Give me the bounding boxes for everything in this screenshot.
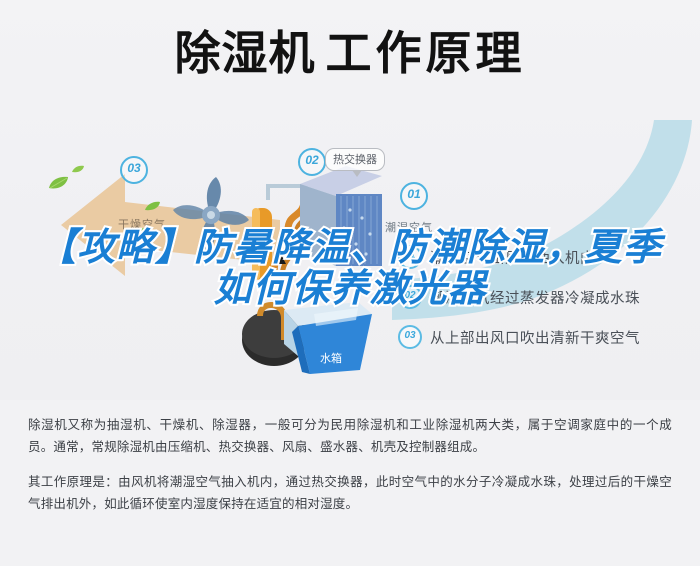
step-text: 潮湿空气经过蒸发器冷凝成水珠	[430, 287, 640, 308]
page-title: 除湿机工作原理	[0, 28, 700, 79]
step-number: 01	[398, 245, 422, 269]
diagram-badge-02: 02	[298, 148, 326, 176]
step-text: 从上部出风口吹出清新干爽空气	[430, 327, 640, 348]
leaf-icon	[136, 222, 148, 240]
step-number: 02	[398, 285, 422, 309]
water-tank-label: 水箱	[320, 350, 342, 366]
step-text: 潮湿空气由风机抽入机内	[430, 247, 595, 268]
leaf-icon	[48, 176, 70, 195]
fan-icon	[168, 172, 254, 258]
paragraph-1: 除湿机又称为抽湿机、干燥机、除湿器，一般可分为民用除湿机和工业除湿机两大类，属于…	[28, 414, 672, 458]
article-body: 除湿机又称为抽湿机、干燥机、除湿器，一般可分为民用除湿机和工业除湿机两大类，属于…	[0, 400, 700, 566]
infographic-panel: 除湿机工作原理 干燥空气	[0, 0, 700, 400]
leaf-icon	[145, 198, 161, 216]
steps-list: 01 潮湿空气由风机抽入机内 02 潮湿空气经过蒸发器冷凝成水珠 03 从上部出…	[398, 240, 693, 360]
list-item: 03 从上部出风口吹出清新干爽空气	[398, 320, 693, 354]
list-item: 02 潮湿空气经过蒸发器冷凝成水珠	[398, 280, 693, 314]
heat-exchanger-callout: 热交换器	[325, 148, 385, 171]
step-number: 03	[398, 325, 422, 349]
headline-part2: 工作原理	[326, 27, 526, 79]
headline-part1: 除湿机	[175, 27, 316, 79]
leaf-icon	[72, 160, 84, 178]
list-item: 01 潮湿空气由风机抽入机内	[398, 240, 693, 274]
heat-exchanger-icon	[300, 166, 382, 274]
paragraph-2: 其工作原理是：由风机将潮湿空气抽入机内，通过热交换器，此时空气中的水分子冷凝成水…	[28, 471, 672, 515]
humid-air-label: 潮湿空气	[385, 219, 433, 235]
diagram-badge-03: 03	[120, 156, 148, 184]
screenshot-root: 除湿机工作原理 干燥空气	[0, 0, 700, 566]
water-tank-icon	[240, 296, 375, 378]
diagram-badge-01: 01	[400, 182, 428, 210]
